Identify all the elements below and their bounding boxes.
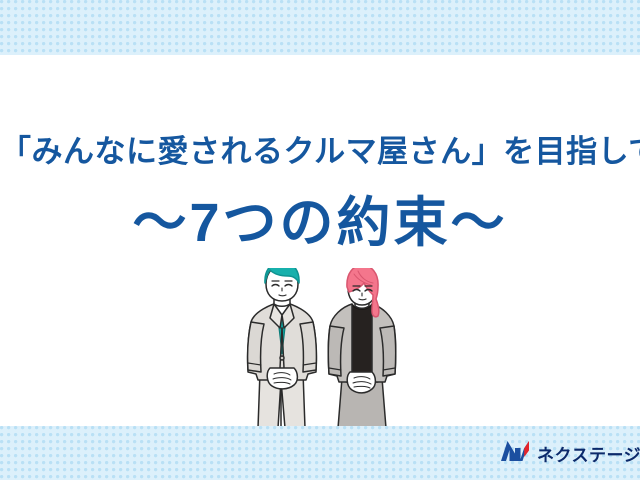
male-staff-figure (248, 268, 317, 428)
brand-wordmark: ネクステージ (537, 441, 640, 466)
female-staff-figure (328, 268, 395, 428)
nextage-n-mark-icon (500, 440, 530, 467)
top-decorative-band (0, 0, 640, 55)
brand-logo: ネクステージ (500, 440, 640, 467)
headline-primary: 「みんなに愛されるクルマ屋さん」を目指して (0, 126, 640, 171)
headline-secondary: 〜7つの約束〜 (0, 178, 640, 257)
staff-illustration (240, 268, 420, 428)
promotional-banner: 「みんなに愛されるクルマ屋さん」を目指して 〜7つの約束〜 (0, 0, 640, 480)
